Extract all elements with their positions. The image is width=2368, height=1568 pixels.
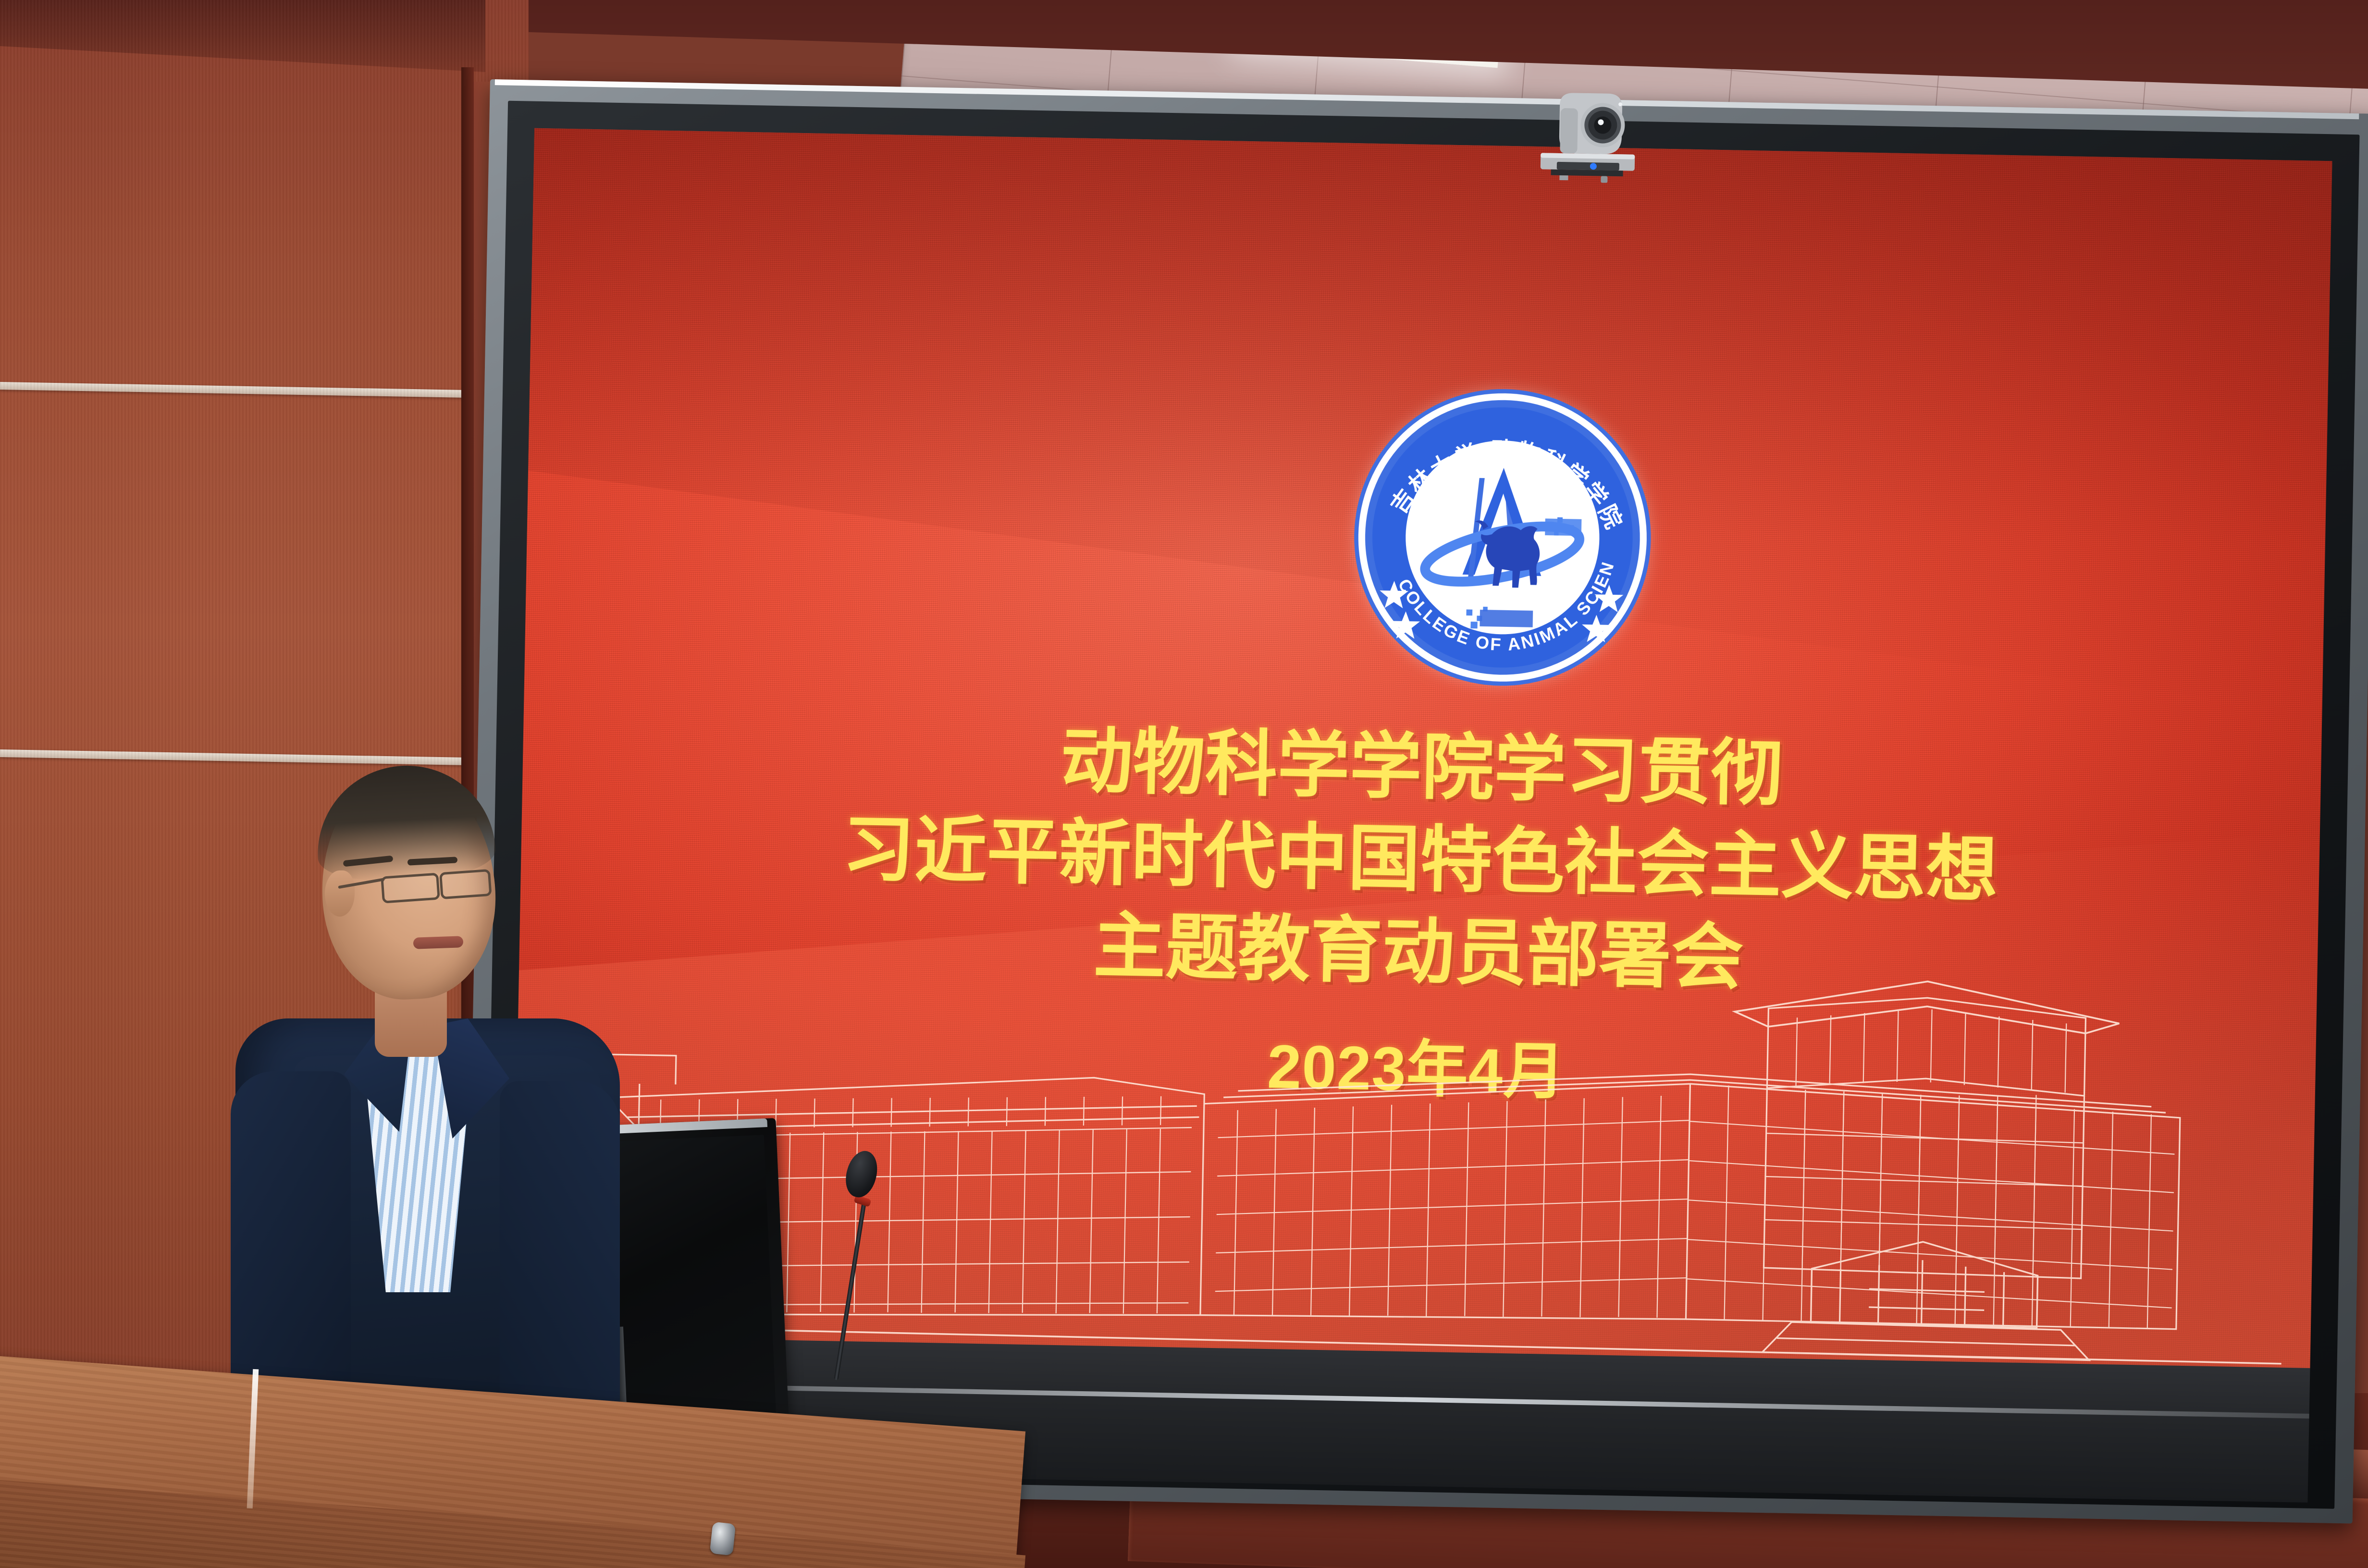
wall-trim-strip-upper — [0, 382, 500, 398]
eyeglasses-temple — [338, 878, 385, 889]
microphone-windscreen — [841, 1148, 882, 1200]
photograph-scene: COLLEGE OF ANIMAL SCIENCES 吉林大学 动物科学学院 — [0, 0, 2368, 1568]
wall-shadow-top — [0, 0, 485, 72]
eyeglasses-lens-right — [439, 869, 492, 899]
lectern-latch[interactable] — [710, 1522, 736, 1556]
speaker-hair — [313, 761, 497, 883]
college-emblem: COLLEGE OF ANIMAL SCIENCES 吉林大学 动物科学学院 — [1348, 383, 1656, 691]
speaker-mouth — [413, 936, 464, 949]
presentation-slide: COLLEGE OF ANIMAL SCIENCES 吉林大学 动物科学学院 — [512, 128, 2332, 1369]
ptz-camera — [1529, 86, 1646, 184]
eyeglasses-lens-left — [381, 873, 440, 904]
microphone-gooseneck — [834, 1201, 866, 1380]
wooden-lectern — [0, 1355, 1028, 1568]
